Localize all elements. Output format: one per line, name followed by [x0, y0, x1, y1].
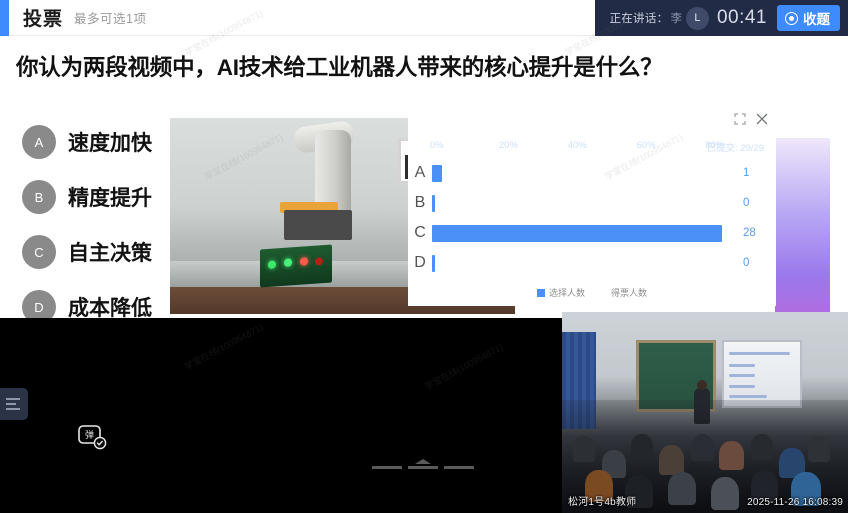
pip-scene	[562, 312, 848, 513]
bar	[432, 195, 435, 212]
pip-caption: 松河1号4b教师	[568, 493, 636, 508]
x-tick-3: 60%	[637, 140, 656, 151]
expand-icon[interactable]	[734, 113, 746, 125]
classroom-video-pip[interactable]: 松河1号4b教师 2025-11-26 16:08:39	[562, 312, 848, 513]
row-value: 0	[738, 257, 776, 269]
video-led-red-2	[315, 257, 323, 266]
page-subtitle: 最多可选1项	[74, 8, 146, 27]
option-label: 速度加快	[68, 127, 152, 157]
bar	[432, 165, 442, 182]
poll-timer: 00:41	[717, 7, 767, 29]
legend-label: 得票人数	[611, 286, 647, 299]
bar	[432, 255, 435, 272]
page-title: 投票	[23, 4, 63, 31]
legend-label: 选择人数	[549, 286, 585, 299]
video-led-green-2	[284, 258, 292, 267]
option-item-a[interactable]: A 速度加快	[22, 120, 152, 164]
option-item-c[interactable]: C 自主决策	[22, 230, 152, 274]
option-key-badge: B	[22, 180, 56, 214]
chart-x-axis: 0% 20% 40% 60% 80% 已提交: 29/29	[430, 140, 766, 156]
sidebar-handle[interactable]	[0, 388, 28, 420]
option-label: 自主决策	[68, 237, 152, 267]
option-label: 精度提升	[68, 182, 152, 212]
collect-button-label: 收题	[803, 8, 830, 28]
video-parts-tray	[284, 210, 352, 240]
video-control-panel	[260, 244, 332, 287]
legend-swatch-blue	[537, 289, 545, 297]
option-item-b[interactable]: B 精度提升	[22, 175, 152, 219]
chart-rows: A 1 B 0 C	[408, 158, 776, 278]
speaker-name: 李	[670, 10, 682, 26]
chart-legend: 选择人数 得票人数	[408, 286, 776, 299]
poll-chart: 0% 20% 40% 60% 80% 已提交: 29/29 A 1 B	[408, 140, 776, 299]
video-led-green	[268, 260, 276, 269]
pip-projector-screen	[722, 340, 802, 408]
x-tick-1: 20%	[499, 140, 518, 151]
legend-item-total: 得票人数	[611, 286, 647, 299]
row-value: 28	[738, 227, 776, 239]
row-value: 0	[738, 197, 776, 209]
option-key-badge: A	[22, 125, 56, 159]
row-value: 1	[738, 167, 776, 179]
bar-track	[432, 225, 732, 242]
svg-text:弹: 弹	[85, 429, 94, 441]
submitted-count: 已提交: 29/29	[706, 140, 764, 154]
row-label: B	[408, 194, 432, 212]
row-label: C	[408, 224, 432, 242]
close-icon[interactable]	[756, 113, 768, 125]
speaking-label: 正在讲话：	[609, 10, 668, 26]
toolbar-collapsed-handle[interactable]	[372, 458, 476, 476]
chart-row-c: C 28	[408, 218, 776, 248]
chart-row-d: D 0	[408, 248, 776, 278]
danmu-toggle-icon[interactable]: 弹	[78, 425, 108, 451]
right-gradient-panel	[775, 138, 830, 314]
row-label: D	[408, 254, 432, 272]
bar-track	[432, 255, 732, 272]
video-led-red	[300, 257, 308, 266]
record-dot-icon	[785, 12, 798, 25]
option-key-badge: C	[22, 235, 56, 269]
pip-timestamp: 2025-11-26 16:08:39	[747, 497, 843, 508]
header-accent-bar	[0, 0, 9, 36]
options-list: A 速度加快 B 精度提升 C 自主决策 D 成本降低	[22, 120, 152, 340]
chart-row-b: B 0	[408, 188, 776, 218]
bar-track	[432, 165, 732, 182]
bar-track	[432, 195, 732, 212]
poll-card-toolbar	[734, 113, 768, 125]
avatar: L	[686, 7, 709, 30]
x-tick-0: 0%	[430, 140, 444, 151]
poll-screen: 投票 最多可选1项 正在讲话： 李 L 00:41 收题 你认为两段视频中，AI…	[0, 0, 848, 513]
question-text: 你认为两段视频中，AI技术给工业机器人带来的核心提升是什么？	[16, 50, 840, 82]
x-tick-2: 40%	[568, 140, 587, 151]
bar	[432, 225, 722, 242]
chart-row-a: A 1	[408, 158, 776, 188]
legend-item-selected: 选择人数	[537, 286, 585, 299]
poll-result-card: 0% 20% 40% 60% 80% 已提交: 29/29 A 1 B	[408, 110, 776, 306]
row-label: A	[408, 164, 432, 182]
collect-button[interactable]: 收题	[777, 5, 840, 31]
speaking-bar: 正在讲话： 李 L 00:41 收题	[595, 0, 848, 36]
